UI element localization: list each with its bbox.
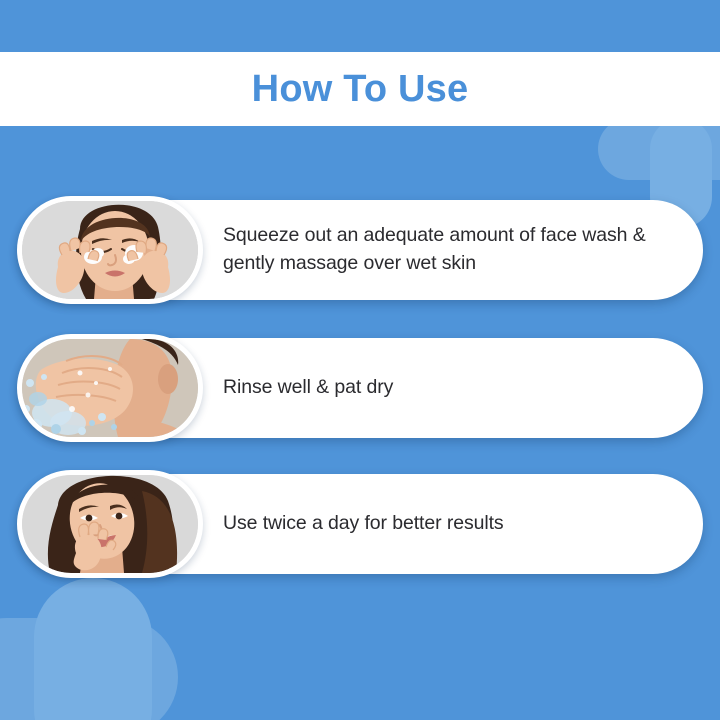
applying-face-wash-illustration: [22, 201, 198, 299]
list-item-label: Use twice a day for better results: [223, 510, 504, 538]
list-item-label: Squeeze out an adequate amount of face w…: [223, 222, 677, 277]
applying-face-wash-photo: [17, 196, 203, 304]
list-item-label: Rinse well & pat dry: [223, 374, 393, 402]
smiling-woman-illustration: [22, 475, 198, 573]
smiling-clear-skin-photo-card[interactable]: Use twice a day for better results: [18, 474, 703, 574]
steps-list: Squeeze out an adequate amount of face w…: [0, 0, 720, 720]
rinsing-face-illustration: [22, 339, 198, 437]
smiling-clear-skin-photo: [17, 470, 203, 578]
how-to-use-poster: How To Use: [0, 0, 720, 720]
list-item[interactable]: Rinse well & pat dry: [18, 338, 703, 438]
list-item[interactable]: Squeeze out an adequate amount of face w…: [18, 200, 703, 300]
rinsing-face-photo: [17, 334, 203, 442]
